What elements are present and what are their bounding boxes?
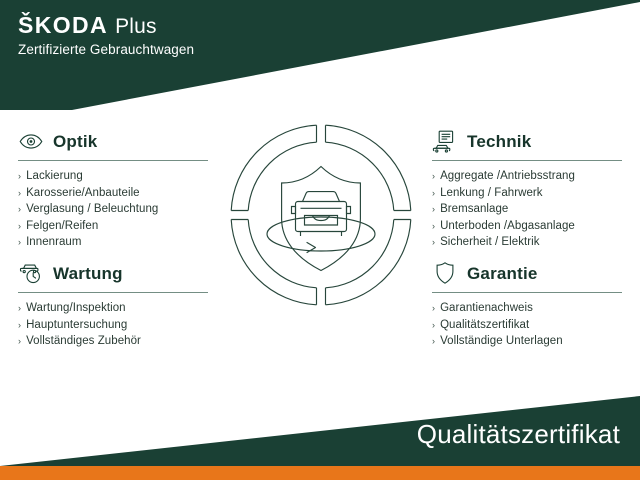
list-item: ›Wartung/Inspektion (18, 300, 223, 317)
section-technik: Technik ›Aggregate /Antriebsstrang ›Lenk… (432, 128, 637, 251)
list-item-label: Qualitätszertifikat (440, 317, 529, 334)
list-item: ›Vollständiges Zubehör (18, 333, 223, 350)
section-optik: Optik ›Lackierung ›Karosserie/Anbauteile… (18, 128, 223, 251)
section-optik-header: Optik (18, 128, 223, 154)
list-item-label: Verglasung / Beleuchtung (26, 201, 158, 218)
section-technik-list: ›Aggregate /Antriebsstrang ›Lenkung / Fa… (432, 168, 637, 251)
chevron-right-icon: › (432, 218, 435, 235)
list-item: ›Qualitätszertifikat (432, 317, 637, 334)
list-item: ›Bremsanlage (432, 201, 637, 218)
chevron-right-icon: › (18, 168, 21, 185)
chevron-right-icon: › (432, 201, 435, 218)
chevron-right-icon: › (18, 185, 21, 202)
chevron-right-icon: › (432, 317, 435, 334)
shield-car-circles-emblem (228, 122, 414, 308)
brand-logo-line1: ŠKODA Plus (18, 14, 194, 37)
list-item-label: Felgen/Reifen (26, 218, 98, 235)
list-item: ›Felgen/Reifen (18, 218, 223, 235)
chevron-right-icon: › (18, 201, 21, 218)
list-item: ›Sicherheit / Elektrik (432, 234, 637, 251)
car-front-icon (292, 192, 351, 236)
chevron-right-icon: › (18, 300, 21, 317)
list-item: ›Aggregate /Antriebsstrang (432, 168, 637, 185)
section-technik-divider (432, 160, 622, 161)
chevron-right-icon: › (432, 185, 435, 202)
list-item: ›Vollständige Unterlagen (432, 333, 637, 350)
section-garantie-list: ›Garantienachweis ›Qualitätszertifikat ›… (432, 300, 637, 350)
list-item-label: Vollständige Unterlagen (440, 333, 563, 350)
list-item-label: Unterboden /Abgasanlage (440, 218, 575, 235)
chevron-right-icon: › (432, 234, 435, 251)
chevron-right-icon: › (432, 300, 435, 317)
list-item: ›Hauptuntersuchung (18, 317, 223, 334)
section-optik-title: Optik (53, 133, 97, 150)
footer-orange-bar (0, 466, 640, 480)
brand-tagline: Zertifizierte Gebrauchtwagen (18, 43, 194, 57)
list-item: ›Lackierung (18, 168, 223, 185)
list-item-label: Aggregate /Antriebsstrang (440, 168, 575, 185)
brand-logo: ŠKODA Plus Zertifizierte Gebrauchtwagen (18, 14, 194, 57)
car-clock-icon (18, 261, 44, 285)
section-wartung: Wartung ›Wartung/Inspektion ›Hauptunters… (18, 260, 223, 350)
list-item: ›Unterboden /Abgasanlage (432, 218, 637, 235)
section-optik-list: ›Lackierung ›Karosserie/Anbauteile ›Verg… (18, 168, 223, 251)
list-item: ›Verglasung / Beleuchtung (18, 201, 223, 218)
shield-outline (282, 167, 361, 271)
footer-title: Qualitätszertifikat (417, 419, 620, 450)
section-optik-divider (18, 160, 208, 161)
list-item-label: Sicherheit / Elektrik (440, 234, 539, 251)
section-wartung-divider (18, 292, 208, 293)
list-item: ›Lenkung / Fahrwerk (432, 185, 637, 202)
list-item-label: Vollständiges Zubehör (26, 333, 141, 350)
list-item-label: Garantienachweis (440, 300, 533, 317)
list-item: ›Innenraum (18, 234, 223, 251)
list-item-label: Wartung/Inspektion (26, 300, 126, 317)
chevron-right-icon: › (18, 234, 21, 251)
list-item-label: Lenkung / Fahrwerk (440, 185, 543, 202)
brand-name: ŠKODA (18, 14, 108, 37)
shield-icon (432, 261, 458, 285)
chevron-right-icon: › (18, 317, 21, 334)
eye-icon (18, 129, 44, 153)
list-item-label: Bremsanlage (440, 201, 508, 218)
section-garantie-header: Garantie (432, 260, 637, 286)
section-garantie-title: Garantie (467, 265, 538, 282)
chevron-right-icon: › (18, 333, 21, 350)
list-item: ›Karosserie/Anbauteile (18, 185, 223, 202)
chevron-right-icon: › (432, 168, 435, 185)
chevron-right-icon: › (432, 333, 435, 350)
section-garantie: Garantie ›Garantienachweis ›Qualitätszer… (432, 260, 637, 350)
car-document-icon (432, 129, 458, 153)
section-technik-title: Technik (467, 133, 531, 150)
section-garantie-divider (432, 292, 622, 293)
list-item-label: Innenraum (26, 234, 81, 251)
section-technik-header: Technik (432, 128, 637, 154)
list-item: ›Garantienachweis (432, 300, 637, 317)
section-wartung-title: Wartung (53, 265, 123, 282)
section-wartung-header: Wartung (18, 260, 223, 286)
list-item-label: Hauptuntersuchung (26, 317, 127, 334)
brand-suffix: Plus (115, 16, 157, 37)
certificate-page: ŠKODA Plus Zertifizierte Gebrauchtwagen … (0, 0, 640, 480)
section-wartung-list: ›Wartung/Inspektion ›Hauptuntersuchung ›… (18, 300, 223, 350)
chevron-right-icon: › (18, 218, 21, 235)
list-item-label: Lackierung (26, 168, 83, 185)
list-item-label: Karosserie/Anbauteile (26, 185, 140, 202)
orbit-ellipse (267, 217, 375, 251)
